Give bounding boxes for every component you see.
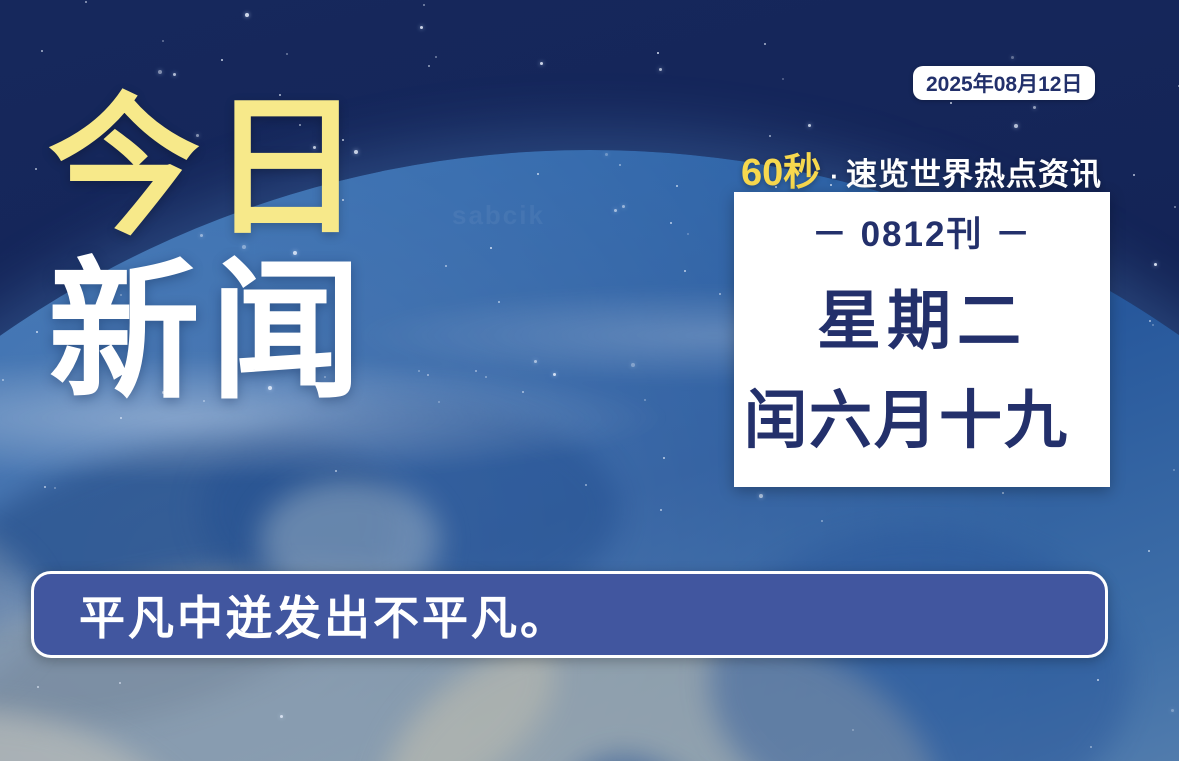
title-line-today: 今日 — [48, 96, 372, 240]
slogan-banner: 平凡中迸发出不平凡。 — [31, 571, 1108, 658]
tagline-text: 速览世界热点资讯 — [846, 149, 1102, 194]
background-watermark: sabcik — [452, 200, 545, 231]
lunar-date-label: 闰六月十九 — [744, 370, 1069, 461]
title-line-news: 新闻 — [48, 260, 372, 404]
page-title: 今日 新闻 — [48, 96, 372, 405]
issue-number: － 0812刊 － — [734, 206, 1110, 257]
tagline: 60秒 · 速览世界热点资讯 — [741, 141, 1102, 196]
date-badge: 2025年08月12日 — [913, 66, 1095, 100]
tagline-separator-dot: · — [830, 161, 839, 192]
tagline-highlight: 60秒 — [741, 141, 821, 196]
news-poster: sabcik 2025年08月12日 今日 新闻 60秒 · 速览世界热点资讯 … — [0, 0, 1179, 761]
weekday-label: 星期二 — [734, 270, 1110, 362]
slogan-text: 平凡中迸发出不平凡。 — [79, 582, 569, 648]
